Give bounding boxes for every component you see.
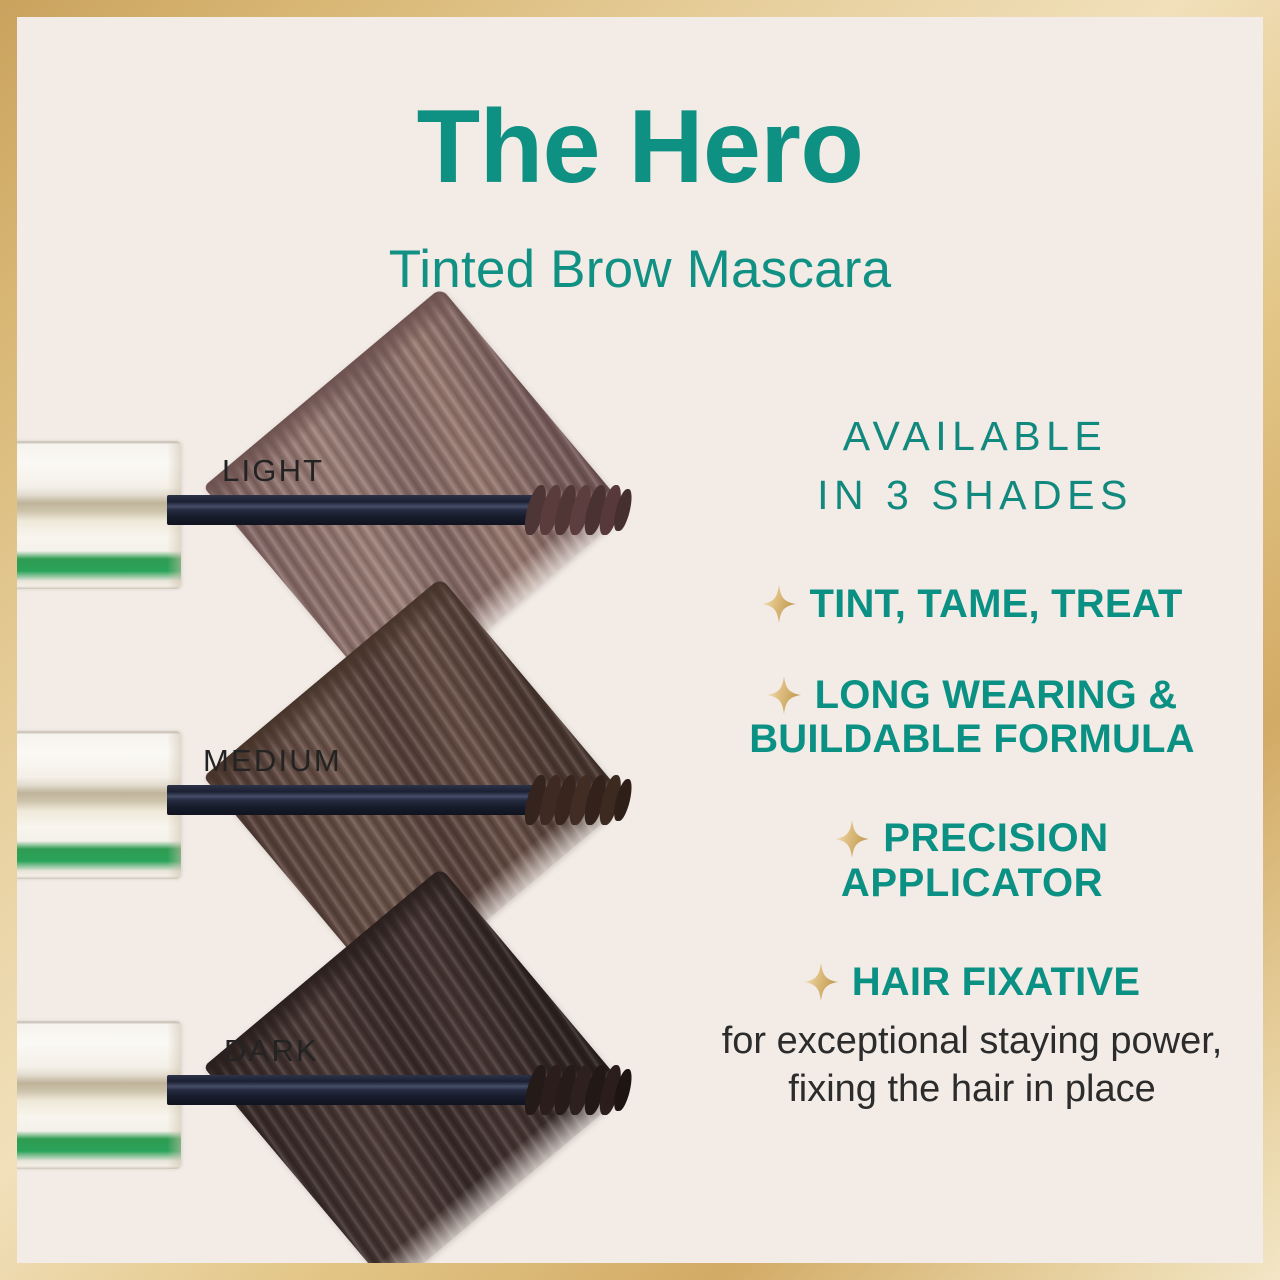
shade-row-medium: MEDIUM [17,637,677,937]
shade-label-medium: MEDIUM [203,743,342,779]
page-subtitle: Tinted Brow Mascara [17,243,1263,296]
feature-item-long-wearing: LONG WEARING & BUILDABLE FORMULA [677,673,1263,763]
availability-line-1: AVAILABLE [683,407,1263,466]
feature-text: TINT, TAME, TREAT [810,582,1183,627]
mascara-cap-light [17,441,181,589]
mascara-wand-light [167,495,539,525]
mascara-cap-medium [17,731,181,879]
sparkle-icon [762,585,796,623]
shade-showcase: LIGHT [17,347,677,1263]
feature-text: HAIR FIXATIVE [852,960,1141,1005]
shade-row-light: LIGHT [17,347,677,647]
feature-text: LONG WEARING & [815,673,1178,718]
poster-inner-panel: The Hero Tinted Brow Mascara [17,17,1263,1263]
feature-item-tint-tame-treat: TINT, TAME, TREAT [677,582,1263,627]
feature-text: BUILDABLE FORMULA [677,717,1263,762]
availability-line-2: IN 3 SHADES [683,466,1263,525]
poster-header: The Hero Tinted Brow Mascara [17,95,1263,296]
shade-row-dark: DARK [17,927,677,1227]
mascara-wand-dark [167,1075,539,1105]
product-poster: The Hero Tinted Brow Mascara [0,0,1280,1280]
feature-text: APPLICATOR [677,861,1263,906]
feature-item-hair-fixative: HAIR FIXATIVE for exceptional staying po… [677,960,1263,1114]
feature-text: PRECISION [883,816,1108,861]
mascara-cap-dark [17,1021,181,1169]
availability-callout: AVAILABLE IN 3 SHADES [683,407,1263,526]
feature-item-precision-applicator: PRECISION APPLICATOR [677,816,1263,906]
brush-head-dark [527,1063,635,1117]
feature-description: for exceptional staying power, fixing th… [677,1017,1263,1114]
feature-list: AVAILABLE IN 3 SHADES [677,407,1263,1114]
sparkle-icon [804,963,838,1001]
brush-head-medium [527,773,635,827]
shade-label-dark: DARK [224,1033,319,1069]
mascara-wand-medium [167,785,539,815]
sparkle-icon [767,676,801,714]
page-title: The Hero [17,95,1263,199]
brush-head-light [527,483,635,537]
sparkle-icon [835,820,869,858]
shade-label-light: LIGHT [222,453,324,489]
